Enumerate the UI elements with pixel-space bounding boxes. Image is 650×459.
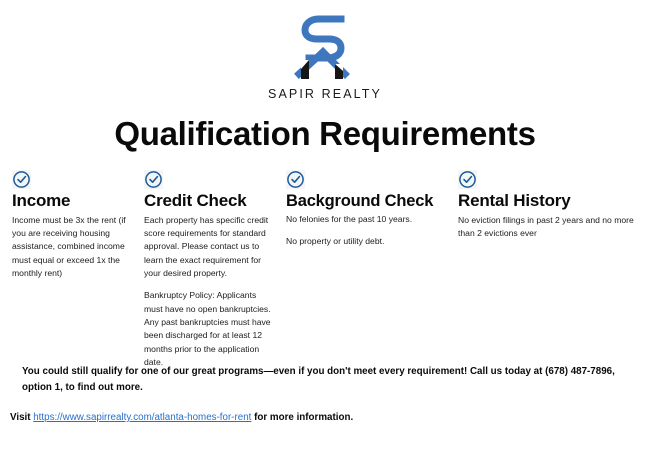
sapirrealty-link[interactable]: https://www.sapirrealty.com/atlanta-home… xyxy=(33,412,251,423)
brand-logo: SAPIR REALTY xyxy=(0,0,650,101)
brand-wordmark: SAPIR REALTY xyxy=(268,87,382,101)
check-circle-icon xyxy=(12,170,31,189)
column-heading: Credit Check xyxy=(144,192,275,211)
column-paragraph: Bankruptcy Policy: Applicants must have … xyxy=(144,289,275,369)
check-circle-icon xyxy=(286,170,305,189)
visit-prefix: Visit xyxy=(10,412,33,423)
visit-suffix: for more information. xyxy=(251,412,353,423)
requirements-columns: Income Income must be 3x the rent (if yo… xyxy=(0,170,650,369)
column-heading: Income xyxy=(12,192,134,211)
page-title: Qualification Requirements xyxy=(0,115,650,153)
sapir-realty-sr-monogram-icon xyxy=(279,12,371,84)
column-paragraph: No eviction filings in past 2 years and … xyxy=(458,214,642,241)
column-paragraph: Each property has specific credit score … xyxy=(144,214,275,281)
check-circle-icon xyxy=(458,170,477,189)
qualification-note: You could still qualify for one of our g… xyxy=(22,364,626,395)
requirement-column-background-check: Background Check No felonies for the pas… xyxy=(283,170,455,249)
requirement-column-rental-history: Rental History No eviction filings in pa… xyxy=(455,170,650,240)
requirement-column-credit-check: Credit Check Each property has specific … xyxy=(140,170,283,369)
check-circle-icon xyxy=(144,170,163,189)
column-paragraph: No felonies for the past 10 years. xyxy=(286,213,449,226)
requirement-column-income: Income Income must be 3x the rent (if yo… xyxy=(0,170,140,280)
visit-line: Visit https://www.sapirrealty.com/atlant… xyxy=(10,411,630,426)
column-paragraph: No property or utility debt. xyxy=(286,235,449,248)
column-heading: Rental History xyxy=(458,192,642,211)
column-heading: Background Check xyxy=(286,192,449,210)
column-paragraph: Income must be 3x the rent (if you are r… xyxy=(12,214,134,281)
